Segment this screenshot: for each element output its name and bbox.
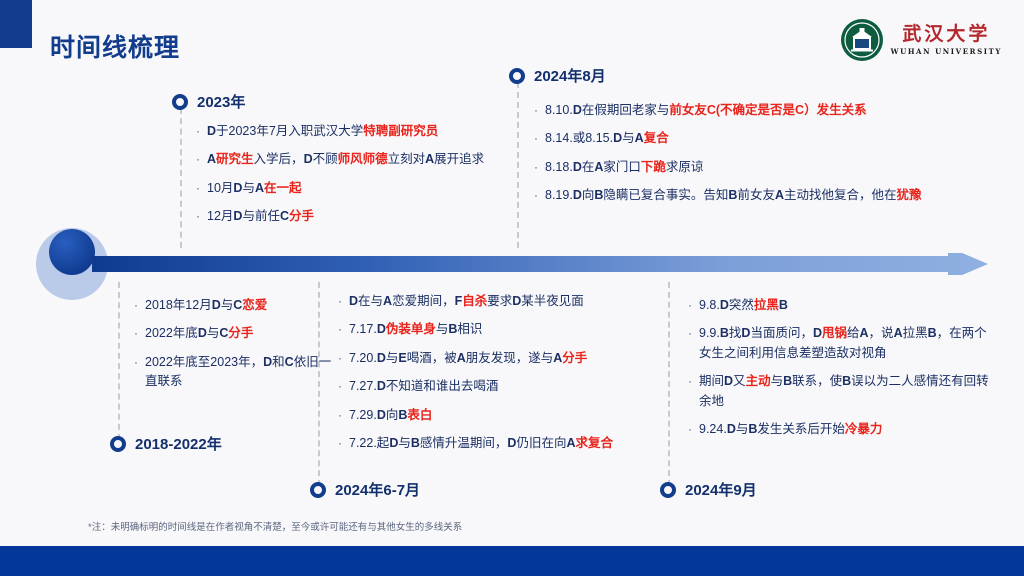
- node-label: 2018-2022年: [135, 433, 222, 454]
- list-item-text: 7.22.起D与B感情升温期间，D仍旧在向A求复合: [349, 434, 658, 453]
- list-item-text: 7.27.D不知道和谁出去喝酒: [349, 377, 658, 396]
- list-item: ·D在与A恋爱期间，F自杀要求D某半夜见面: [338, 292, 658, 311]
- list-item: ·8.19.D向B隐瞒已复合事实。告知B前女友A主动找他复合，他在犹豫: [534, 186, 954, 205]
- bullet-dot-icon: ·: [338, 434, 342, 453]
- list-item-text: 8.14.或8.15.D与A复合: [545, 129, 954, 148]
- list-item-text: 7.17.D伪装单身与B相识: [349, 320, 658, 339]
- bullet-dot-icon: ·: [534, 158, 538, 177]
- list-item-text: 12月D与前任C分手: [207, 207, 496, 226]
- connector-sep2024: [668, 282, 670, 486]
- bullet-dot-icon: ·: [196, 179, 200, 198]
- bullet-dot-icon: ·: [534, 129, 538, 148]
- list-item-text: 7.29.D向B表白: [349, 406, 658, 425]
- list-item: ·8.18.D在A家门口下跪求原谅: [534, 158, 954, 177]
- bullet-dot-icon: ·: [338, 292, 342, 311]
- university-logo: 武汉大学 WUHAN UNIVERSITY: [840, 18, 1002, 62]
- list-item-text: 2018年12月D与C恋爱: [145, 296, 339, 315]
- connector-2018-2022: [118, 282, 120, 440]
- list-item: ·7.29.D向B表白: [338, 406, 658, 425]
- list-item: ·9.8.D突然拉黑B: [688, 296, 998, 315]
- bullet-dot-icon: ·: [688, 324, 692, 343]
- node-2018-2022[interactable]: 2018-2022年: [110, 433, 222, 454]
- list-item: ·9.9.B找D当面质问，D甩锅给A，说A拉黑B，在两个女生之间利用信息差塑造敌…: [688, 324, 998, 363]
- list-item-text: 9.9.B找D当面质问，D甩锅给A，说A拉黑B，在两个女生之间利用信息差塑造敌对…: [699, 324, 998, 363]
- bullet-dot-icon: ·: [688, 420, 692, 439]
- bullet-dot-icon: ·: [338, 349, 342, 368]
- node-label: 2024年8月: [534, 65, 606, 86]
- list-item-text: 8.10.D在假期回老家与前女友C(不确定是否是C）发生关系: [545, 101, 954, 120]
- node-label: 2024年9月: [685, 479, 757, 500]
- bullet-dot-icon: ·: [196, 207, 200, 226]
- bullet-dot-icon: ·: [134, 353, 138, 372]
- node-sep2024[interactable]: 2024年9月: [660, 479, 757, 500]
- list-item: ·12月D与前任C分手: [196, 207, 496, 226]
- slide-canvas: 时间线梳理 武汉大学 WUHAN UNIVERSITY: [0, 0, 1024, 576]
- connector-2023: [180, 108, 182, 248]
- node-2023[interactable]: 2023年: [172, 91, 245, 112]
- bullet-dot-icon: ·: [688, 296, 692, 315]
- list-item-text: 8.19.D向B隐瞒已复合事实。告知B前女友A主动找他复合，他在犹豫: [545, 186, 954, 205]
- bullet-dot-icon: ·: [134, 296, 138, 315]
- list-item-text: A研究生入学后，D不顾师风师德立刻对A展开追求: [207, 150, 496, 169]
- list-item: ·7.17.D伪装单身与B相识: [338, 320, 658, 339]
- node-ring-icon: [172, 94, 188, 110]
- list-item-text: 9.24.D与B发生关系后开始冷暴力: [699, 420, 998, 439]
- bullet-dot-icon: ·: [134, 324, 138, 343]
- list-item: ·2018年12月D与C恋爱: [134, 296, 339, 315]
- node-label: 2023年: [197, 91, 245, 112]
- bullet-dot-icon: ·: [534, 101, 538, 120]
- list-item: ·D于2023年7月入职武汉大学特聘副研究员: [196, 122, 496, 141]
- list-item: ·7.27.D不知道和谁出去喝酒: [338, 377, 658, 396]
- block-jun-jul2024: ·D在与A恋爱期间，F自杀要求D某半夜见面·7.17.D伪装单身与B相识·7.2…: [338, 292, 658, 462]
- page-title: 时间线梳理: [50, 28, 180, 64]
- list-item: ·9.24.D与B发生关系后开始冷暴力: [688, 420, 998, 439]
- list-item-text: 2022年底D与C分手: [145, 324, 339, 343]
- node-aug2024[interactable]: 2024年8月: [509, 65, 606, 86]
- bullet-dot-icon: ·: [534, 186, 538, 205]
- connector-aug2024: [517, 82, 519, 248]
- list-item-text: 8.18.D在A家门口下跪求原谅: [545, 158, 954, 177]
- list-item-text: 期间D又主动与B联系，使B误以为二人感情还有回转余地: [699, 372, 998, 411]
- list-item: ·10月D与A在一起: [196, 179, 496, 198]
- block-2023: ·D于2023年7月入职武汉大学特聘副研究员·A研究生入学后，D不顾师风师德立刻…: [196, 122, 496, 236]
- timeline-start-inner-circle: [49, 229, 95, 275]
- bullet-dot-icon: ·: [196, 122, 200, 141]
- node-jun-jul2024[interactable]: 2024年6-7月: [310, 479, 420, 500]
- node-ring-icon: [660, 482, 676, 498]
- list-item: ·7.20.D与E喝酒，被A朋友发现，遂与A分手: [338, 349, 658, 368]
- block-2018-2022: ·2018年12月D与C恋爱·2022年底D与C分手·2022年底至2023年，…: [134, 296, 339, 401]
- bullet-dot-icon: ·: [196, 150, 200, 169]
- list-item: ·2022年底D与C分手: [134, 324, 339, 343]
- corner-accent-square: [0, 0, 32, 48]
- list-item-text: D在与A恋爱期间，F自杀要求D某半夜见面: [349, 292, 658, 311]
- block-aug2024: ·8.10.D在假期回老家与前女友C(不确定是否是C）发生关系·8.14.或8.…: [534, 101, 954, 215]
- footnote: *注：未明确标明的时间线是在作者视角不清楚，至今或许可能还有与其他女生的多线关系: [88, 519, 462, 533]
- list-item-text: 7.20.D与E喝酒，被A朋友发现，遂与A分手: [349, 349, 658, 368]
- node-label: 2024年6-7月: [335, 479, 420, 500]
- list-item: ·8.10.D在假期回老家与前女友C(不确定是否是C）发生关系: [534, 101, 954, 120]
- list-item: ·期间D又主动与B联系，使B误以为二人感情还有回转余地: [688, 372, 998, 411]
- node-ring-icon: [310, 482, 326, 498]
- bullet-dot-icon: ·: [338, 406, 342, 425]
- list-item-text: 10月D与A在一起: [207, 179, 496, 198]
- node-ring-icon: [509, 68, 525, 84]
- logo-chinese-name: 武汉大学: [902, 25, 990, 44]
- list-item-text: D于2023年7月入职武汉大学特聘副研究员: [207, 122, 496, 141]
- block-sep2024: ·9.8.D突然拉黑B·9.9.B找D当面质问，D甩锅给A，说A拉黑B，在两个女…: [688, 296, 998, 448]
- bullet-dot-icon: ·: [688, 372, 692, 391]
- bottom-accent-bar: [0, 546, 1024, 576]
- timeline-arrow-bar: [92, 253, 988, 275]
- wuhan-university-emblem-icon: [840, 18, 884, 62]
- bullet-dot-icon: ·: [338, 320, 342, 339]
- timeline-axis: [36, 240, 988, 288]
- list-item: ·2022年底至2023年，D和C依旧一直联系: [134, 353, 339, 392]
- list-item-text: 9.8.D突然拉黑B: [699, 296, 998, 315]
- list-item: ·7.22.起D与B感情升温期间，D仍旧在向A求复合: [338, 434, 658, 453]
- logo-english-name: WUHAN UNIVERSITY: [891, 48, 1002, 55]
- bullet-dot-icon: ·: [338, 377, 342, 396]
- node-ring-icon: [110, 436, 126, 452]
- list-item: ·8.14.或8.15.D与A复合: [534, 129, 954, 148]
- list-item: ·A研究生入学后，D不顾师风师德立刻对A展开追求: [196, 150, 496, 169]
- list-item-text: 2022年底至2023年，D和C依旧一直联系: [145, 353, 339, 392]
